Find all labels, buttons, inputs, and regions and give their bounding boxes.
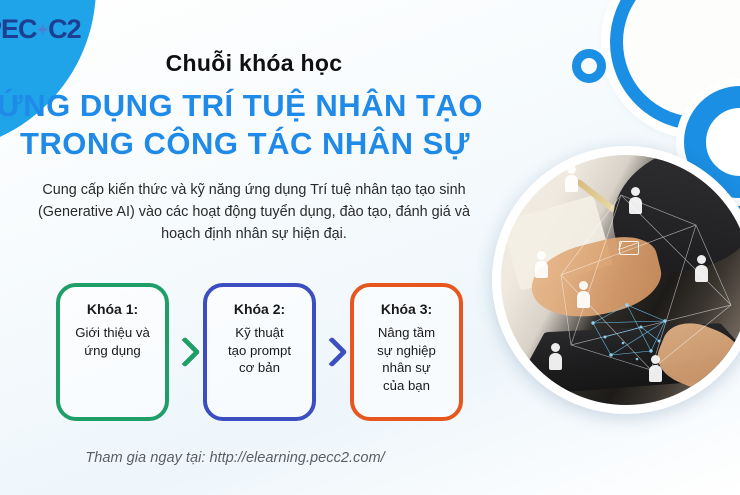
description-line-1: Cung cấp kiến thức và kỹ năng ứng dụng T…: [42, 182, 411, 198]
poster-canvas: PEC✦C2 Chuỗi khóa học ỨNG DỤNG TRÍ TUỆ N…: [0, 0, 740, 495]
blue-ring-large-icon: [610, 0, 740, 130]
content-column: Chuỗi khóa học ỨNG DỤNG TRÍ TUỆ NHÂN TẠO…: [0, 0, 508, 495]
blue-ring-small-icon: [572, 49, 606, 83]
hero-photo-circle: [492, 146, 740, 414]
page-title: ỨNG DỤNG TRÍ TUỆ NHÂN TẠO TRONG CÔNG TÁC…: [0, 87, 508, 164]
person-icon: [535, 251, 548, 278]
person-icon: [695, 255, 708, 282]
person-icon: [629, 187, 642, 214]
page-title-line-2: TRONG CÔNG TÁC NHÂN SỰ: [0, 125, 508, 163]
person-icon: [549, 343, 562, 370]
hero-photo-image: [501, 155, 740, 405]
person-icon: [565, 165, 578, 192]
envelope-icon: [619, 241, 639, 255]
person-icon: [649, 355, 662, 382]
page-title-line-1: ỨNG DỤNG TRÍ TUỆ NHÂN TẠO: [0, 87, 508, 125]
person-icon: [577, 281, 590, 308]
description-text: Cung cấp kiến thức và kỹ năng ứng dụng T…: [24, 180, 484, 246]
kicker-heading: Chuỗi khóa học: [0, 50, 508, 77]
